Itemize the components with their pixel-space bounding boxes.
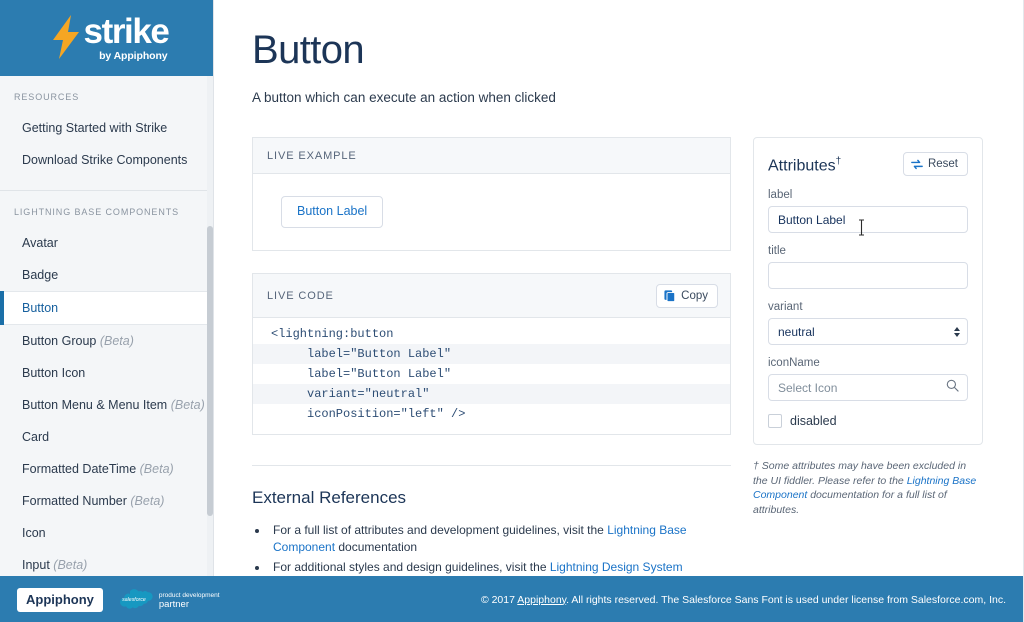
- sidebar-item-formatted-datetime[interactable]: Formatted DateTime (Beta): [0, 453, 213, 485]
- ref-text-pre: For additional styles and design guideli…: [273, 560, 550, 574]
- sidebar-item-label: Formatted DateTime: [22, 462, 136, 476]
- sidebar: strike by Appiphony RESOURCES Getting St…: [0, 0, 214, 622]
- attributes-title: Attributes†: [768, 152, 841, 176]
- copy-icon: [664, 290, 676, 302]
- logo-name: strike: [84, 15, 169, 49]
- sidebar-item-input[interactable]: Input (Beta): [0, 549, 213, 576]
- sidebar-item-label: Card: [22, 430, 49, 444]
- sidebar-item-avatar[interactable]: Avatar: [0, 227, 213, 259]
- beta-tag: (Beta): [100, 334, 134, 348]
- partner-line-2: partner: [159, 600, 220, 609]
- external-references-list: For a full list of attributes and develo…: [269, 522, 731, 576]
- live-example-panel: LIVE EXAMPLE Button Label: [252, 137, 731, 251]
- logo: strike by Appiphony: [51, 15, 169, 62]
- appiphony-badge: Appiphony: [17, 588, 103, 612]
- list-item: For additional styles and design guideli…: [269, 559, 731, 576]
- ref-text-pre: For a full list of attributes and develo…: [273, 523, 607, 537]
- footer-brand-group: Appiphony salesforce product development…: [17, 587, 220, 613]
- field-label-text: title: [768, 244, 968, 258]
- live-example-body: Button Label: [253, 174, 730, 250]
- code-line: variant="neutral": [253, 384, 730, 404]
- field-iconname-group: iconName: [768, 356, 968, 401]
- sidebar-logo-header[interactable]: strike by Appiphony: [0, 0, 213, 76]
- copyright-post: . All rights reserved. The Salesforce Sa…: [566, 594, 1006, 606]
- sidebar-item-label: Icon: [22, 526, 46, 540]
- page-footer: Appiphony salesforce product development…: [0, 576, 1024, 622]
- disabled-checkbox-row[interactable]: disabled: [768, 414, 968, 428]
- live-example-title: LIVE EXAMPLE: [267, 150, 357, 162]
- reset-button-label: Reset: [928, 157, 958, 171]
- iconname-input[interactable]: [768, 374, 968, 401]
- code-line: <lightning:button: [253, 324, 730, 344]
- right-column: Attributes† Reset label: [753, 137, 983, 517]
- nav-group-lightning-base-components: LIGHTNING BASE COMPONENTS Avatar Badge B…: [0, 190, 213, 576]
- sidebar-item-label: Formatted Number: [22, 494, 127, 508]
- salesforce-partner-logo: salesforce product development partner: [114, 587, 220, 613]
- beta-tag: (Beta): [53, 558, 87, 572]
- sidebar-item-label: Button Icon: [22, 366, 85, 380]
- live-code-panel: LIVE CODE Copy <lightning:button: [252, 273, 731, 435]
- nav-group-resources: RESOURCES Getting Started with Strike Do…: [0, 76, 213, 190]
- sidebar-scrollbar-thumb[interactable]: [207, 226, 213, 516]
- attributes-panel: Attributes† Reset label: [753, 137, 983, 445]
- app-root: strike by Appiphony RESOURCES Getting St…: [0, 0, 1024, 622]
- logo-subtitle: by Appiphony: [99, 50, 168, 62]
- lightning-bolt-icon: [51, 15, 81, 59]
- left-column: LIVE EXAMPLE Button Label LIVE CODE: [252, 137, 731, 576]
- svg-text:salesforce: salesforce: [122, 597, 146, 603]
- live-example-header: LIVE EXAMPLE: [253, 138, 730, 174]
- field-label-group: label: [768, 188, 968, 233]
- sidebar-item-label: Badge: [22, 268, 58, 282]
- nav-group-title: LIGHTNING BASE COMPONENTS: [0, 191, 213, 227]
- sidebar-item-button-icon[interactable]: Button Icon: [0, 357, 213, 389]
- copy-button[interactable]: Copy: [656, 284, 718, 308]
- attributes-title-text: Attributes: [768, 157, 836, 174]
- live-code-body[interactable]: <lightning:button label="Button Label" l…: [253, 318, 730, 434]
- sidebar-scrollbar-track[interactable]: [207, 76, 213, 576]
- section-divider: [252, 465, 731, 466]
- sidebar-item-label: Button Menu & Menu Item: [22, 398, 167, 412]
- live-code-header: LIVE CODE Copy: [253, 274, 730, 318]
- attributes-header: Attributes† Reset: [768, 152, 968, 176]
- sidebar-item-button-group[interactable]: Button Group (Beta): [0, 325, 213, 357]
- sidebar-nav: RESOURCES Getting Started with Strike Do…: [0, 76, 213, 576]
- sidebar-item-formatted-number[interactable]: Formatted Number (Beta): [0, 485, 213, 517]
- beta-tag: (Beta): [130, 494, 164, 508]
- disabled-checkbox[interactable]: [768, 414, 782, 428]
- nav-group-title: RESOURCES: [0, 76, 213, 112]
- footer-copyright: © 2017 Appiphony. All rights reserved. T…: [481, 594, 1010, 606]
- reset-button[interactable]: Reset: [903, 152, 968, 176]
- beta-tag: (Beta): [171, 398, 205, 412]
- sidebar-item-icon[interactable]: Icon: [0, 517, 213, 549]
- sidebar-item-card[interactable]: Card: [0, 421, 213, 453]
- page-title: Button: [252, 26, 990, 74]
- copy-button-label: Copy: [681, 289, 708, 303]
- sidebar-item-label: Button: [22, 301, 58, 315]
- field-label-text: iconName: [768, 356, 968, 370]
- sidebar-item-badge[interactable]: Badge: [0, 259, 213, 291]
- reset-sync-icon: [911, 159, 923, 170]
- beta-tag: (Beta): [140, 462, 174, 476]
- sidebar-item-label: Input: [22, 558, 50, 572]
- ref-text-post: documentation: [335, 540, 417, 554]
- page-subtitle: A button which can execute an action whe…: [252, 89, 990, 107]
- sidebar-item-button-menu-menu-item[interactable]: Button Menu & Menu Item (Beta): [0, 389, 213, 421]
- live-code-title: LIVE CODE: [267, 290, 334, 302]
- code-line: label="Button Label": [253, 344, 730, 364]
- sidebar-item-label: Button Group: [22, 334, 96, 348]
- label-input[interactable]: [768, 206, 968, 233]
- dagger-marker: †: [836, 156, 842, 167]
- sidebar-item-label: Download Strike Components: [22, 153, 187, 167]
- sidebar-item-download-strike-components[interactable]: Download Strike Components: [0, 144, 213, 176]
- copyright-link[interactable]: Appiphony: [517, 594, 566, 606]
- sidebar-item-label: Avatar: [22, 236, 58, 250]
- demo-button[interactable]: Button Label: [281, 196, 383, 228]
- disabled-checkbox-label: disabled: [790, 414, 837, 428]
- sidebar-item-label: Getting Started with Strike: [22, 121, 167, 135]
- code-line: label="Button Label": [253, 364, 730, 384]
- sidebar-item-button[interactable]: Button: [0, 291, 213, 325]
- field-label-text: variant: [768, 300, 968, 314]
- title-input[interactable]: [768, 262, 968, 289]
- sidebar-item-getting-started-with-strike[interactable]: Getting Started with Strike: [0, 112, 213, 144]
- ref-link[interactable]: Lightning Design System: [550, 560, 683, 574]
- field-label-text: label: [768, 188, 968, 202]
- attributes-footnote: † Some attributes may have been excluded…: [753, 459, 983, 517]
- external-references-title: External References: [252, 488, 731, 508]
- list-item: For a full list of attributes and develo…: [269, 522, 731, 556]
- salesforce-cloud-icon: salesforce: [114, 587, 154, 613]
- copyright-pre: © 2017: [481, 594, 517, 606]
- code-line: iconPosition="left" />: [253, 404, 730, 424]
- variant-select[interactable]: [768, 318, 968, 345]
- main-content: Button A button which can execute an act…: [214, 0, 1024, 576]
- field-variant-group: variant: [768, 300, 968, 345]
- field-title-group: title: [768, 244, 968, 289]
